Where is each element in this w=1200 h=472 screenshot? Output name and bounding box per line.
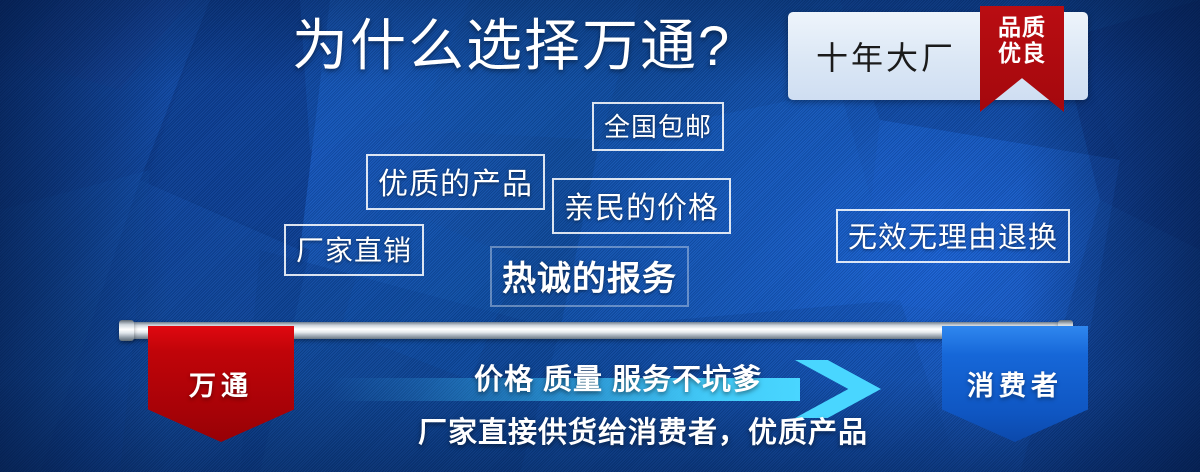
flow-subline: 厂家直接供货给消费者，优质产品 [418, 409, 868, 451]
page-title: 为什么选择万通? [292, 14, 731, 78]
feature-tag-sincere-service: 热诚的报务 [490, 246, 689, 307]
rod-cap-left [119, 320, 134, 341]
promo-banner: 为什么选择万通? 十年大厂 品质 优良 全国包邮 优质的产品 亲民的价格 厂家直… [0, 0, 1200, 472]
feature-tag-quality-product: 优质的产品 [366, 154, 545, 210]
feature-tag-free-returns: 无效无理由退换 [836, 209, 1070, 263]
ribbon-line-1: 品质 [980, 15, 1064, 41]
badge-label: 十年大厂 [816, 33, 956, 79]
ribbon-line-2: 优良 [980, 41, 1064, 67]
quality-badge: 十年大厂 品质 优良 [788, 12, 1088, 100]
pennant-manufacturer-label: 万通 [148, 364, 294, 403]
flow-headline: 价格 质量 服务不坑爹 [474, 356, 762, 398]
feature-tag-factory-direct: 厂家直销 [284, 224, 424, 276]
feature-tag-nationwide-shipping: 全国包邮 [592, 102, 724, 151]
feature-tag-fair-price: 亲民的价格 [552, 178, 731, 234]
ribbon-icon: 品质 优良 [980, 6, 1064, 112]
pennant-consumer-label: 消费者 [942, 364, 1088, 403]
